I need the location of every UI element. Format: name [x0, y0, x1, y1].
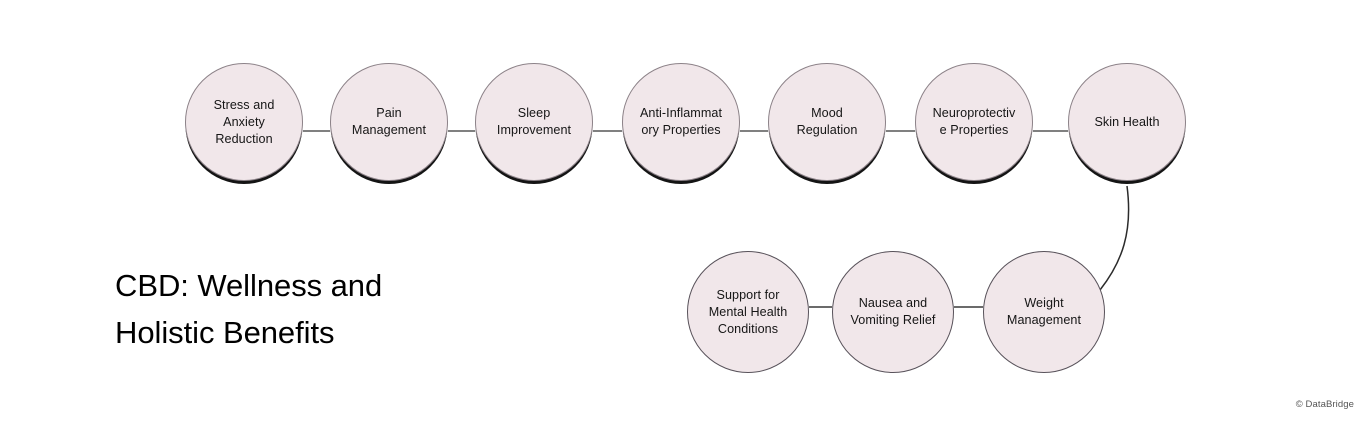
node-anti-inflammatory-properties[interactable]: Anti-Inflammat ory Properties [622, 63, 740, 181]
node-label: Stress and Anxiety Reduction [210, 97, 279, 148]
node-weight-management[interactable]: Weight Management [983, 251, 1105, 373]
node-skin-health[interactable]: Skin Health [1068, 63, 1186, 181]
node-label: Sleep Improvement [493, 105, 575, 139]
node-mood-regulation[interactable]: Mood Regulation [768, 63, 886, 181]
node-pain-management[interactable]: Pain Management [330, 63, 448, 181]
node-stress-and-anxiety-reduction[interactable]: Stress and Anxiety Reduction [185, 63, 303, 181]
node-support-for-mental-health-conditions[interactable]: Support for Mental Health Conditions [687, 251, 809, 373]
node-sleep-improvement[interactable]: Sleep Improvement [475, 63, 593, 181]
node-neuroprotective-properties[interactable]: Neuroprotectiv e Properties [915, 63, 1033, 181]
node-nausea-and-vomiting-relief[interactable]: Nausea and Vomiting Relief [832, 251, 954, 373]
node-label: Nausea and Vomiting Relief [847, 295, 940, 329]
node-label: Weight Management [1003, 295, 1085, 329]
diagram-canvas: Stress and Anxiety Reduction Pain Manage… [0, 0, 1366, 422]
node-label: Support for Mental Health Conditions [705, 287, 792, 338]
page-title: CBD: Wellness and Holistic Benefits [115, 262, 545, 356]
connector-skin-to-weight-curve [1100, 186, 1129, 290]
watermark-credit: © DataBridge [1296, 399, 1354, 410]
node-label: Mood Regulation [793, 105, 862, 139]
node-label: Anti-Inflammat ory Properties [636, 105, 726, 139]
node-label: Skin Health [1090, 114, 1163, 131]
node-label: Neuroprotectiv e Properties [929, 105, 1020, 139]
node-label: Pain Management [348, 105, 430, 139]
